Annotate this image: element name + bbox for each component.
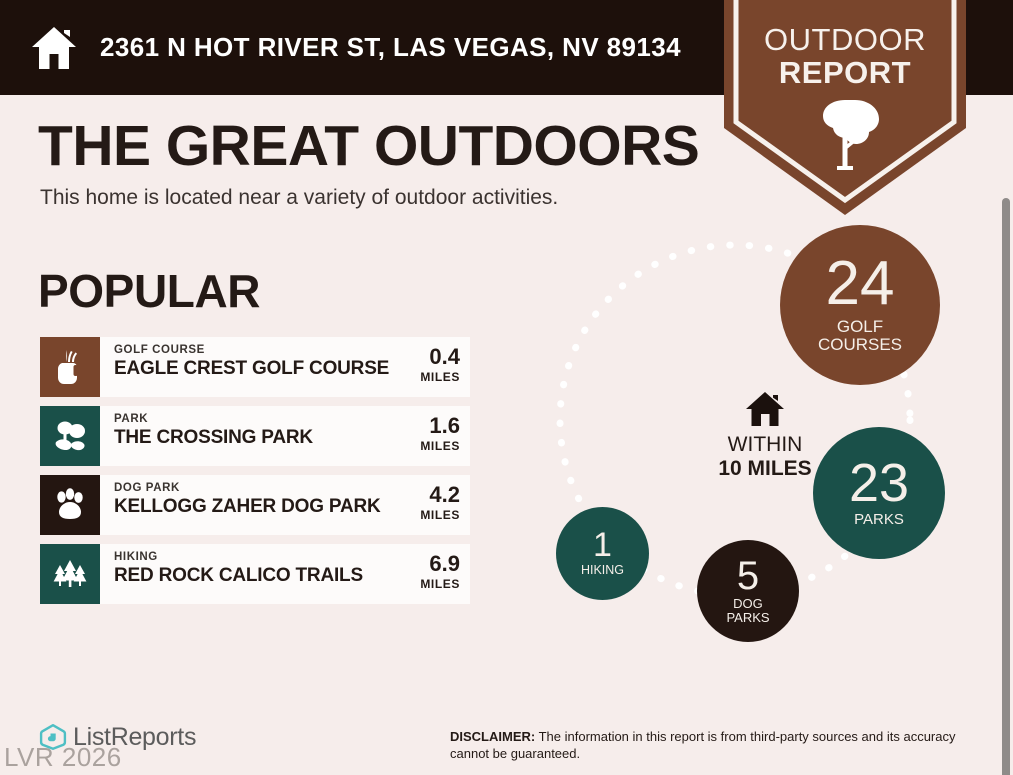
stat-count: 24 [826, 255, 895, 314]
poi-category: HIKING [114, 551, 416, 564]
scrollbar-track[interactable] [999, 95, 1013, 775]
poi-distance-unit: MILES [420, 508, 460, 522]
disclaimer: DISCLAIMER: The information in this repo… [450, 728, 995, 762]
poi-category: DOG PARK [114, 482, 416, 495]
stat-label: PARKS [854, 512, 904, 529]
poi-name: KELLOGG ZAHER DOG PARK [114, 496, 416, 517]
home-icon [30, 25, 78, 71]
stat-label-line-1: GOLF [818, 318, 902, 337]
list-item[interactable]: HIKING RED ROCK CALICO TRAILS 6.9 MILES [40, 544, 470, 604]
poi-distance-unit: MILES [420, 439, 460, 453]
popular-heading: POPULAR [38, 264, 260, 318]
poi-distance: 1.6 [420, 415, 460, 437]
home-icon [744, 390, 786, 428]
poi-name: RED ROCK CALICO TRAILS [114, 565, 416, 586]
watermark: LVR 2026 [4, 742, 122, 773]
poi-distance: 6.9 [420, 553, 460, 575]
list-item[interactable]: GOLF COURSE EAGLE CREST GOLF COURSE 0.4 … [40, 337, 470, 397]
stat-label-line-2: PARKS [726, 611, 769, 625]
poi-name: THE CROSSING PARK [114, 427, 416, 448]
pine-trees-icon [51, 557, 89, 591]
stat-bubble-hiking[interactable]: 1 HIKING [556, 507, 649, 600]
page-title: THE GREAT OUTDOORS [38, 118, 699, 175]
page-subtitle: This home is located near a variety of o… [40, 186, 558, 210]
property-address: 2361 N HOT RIVER ST, LAS VEGAS, NV 89134 [100, 32, 681, 63]
within-10-miles-diagram: WITHIN 10 MILES 24 GOLF COURSES 23 PARKS… [530, 215, 1000, 675]
golf-bag-icon [53, 349, 87, 385]
stat-label: DOG PARKS [726, 597, 769, 626]
outdoor-report-badge: OUTDOOR REPORT [724, 0, 966, 215]
poi-icon-tile [40, 544, 100, 604]
poi-icon-tile [40, 337, 100, 397]
stat-count: 5 [737, 557, 759, 595]
stat-bubble-dog-parks[interactable]: 5 DOG PARKS [697, 540, 799, 642]
stat-label-line-1: DOG [726, 597, 769, 611]
poi-icon-tile [40, 475, 100, 535]
stat-bubble-golf-courses[interactable]: 24 GOLF COURSES [780, 225, 940, 385]
poi-distance: 4.2 [420, 484, 460, 506]
stat-bubble-parks[interactable]: 23 PARKS [813, 427, 945, 559]
poi-category: GOLF COURSE [114, 344, 416, 357]
paw-print-icon [52, 488, 88, 522]
disclaimer-label: DISCLAIMER: [450, 729, 535, 744]
park-trees-icon [52, 419, 88, 453]
poi-distance-unit: MILES [420, 577, 460, 591]
list-item[interactable]: DOG PARK KELLOGG ZAHER DOG PARK 4.2 MILE… [40, 475, 470, 535]
stat-label: HIKING [581, 564, 624, 578]
poi-icon-tile [40, 406, 100, 466]
poi-distance: 0.4 [420, 346, 460, 368]
stat-count: 1 [593, 529, 612, 561]
stat-count: 23 [849, 458, 909, 509]
list-item[interactable]: PARK THE CROSSING PARK 1.6 MILES [40, 406, 470, 466]
popular-list: GOLF COURSE EAGLE CREST GOLF COURSE 0.4 … [40, 337, 470, 613]
stat-label-line-2: COURSES [818, 336, 902, 355]
poi-distance-unit: MILES [420, 370, 460, 384]
poi-name: EAGLE CREST GOLF COURSE [114, 358, 416, 379]
outdoor-report-page: 2361 N HOT RIVER ST, LAS VEGAS, NV 89134… [0, 0, 1013, 775]
stat-label: GOLF COURSES [818, 318, 902, 355]
poi-category: PARK [114, 413, 416, 426]
scrollbar-thumb[interactable] [1002, 198, 1010, 775]
